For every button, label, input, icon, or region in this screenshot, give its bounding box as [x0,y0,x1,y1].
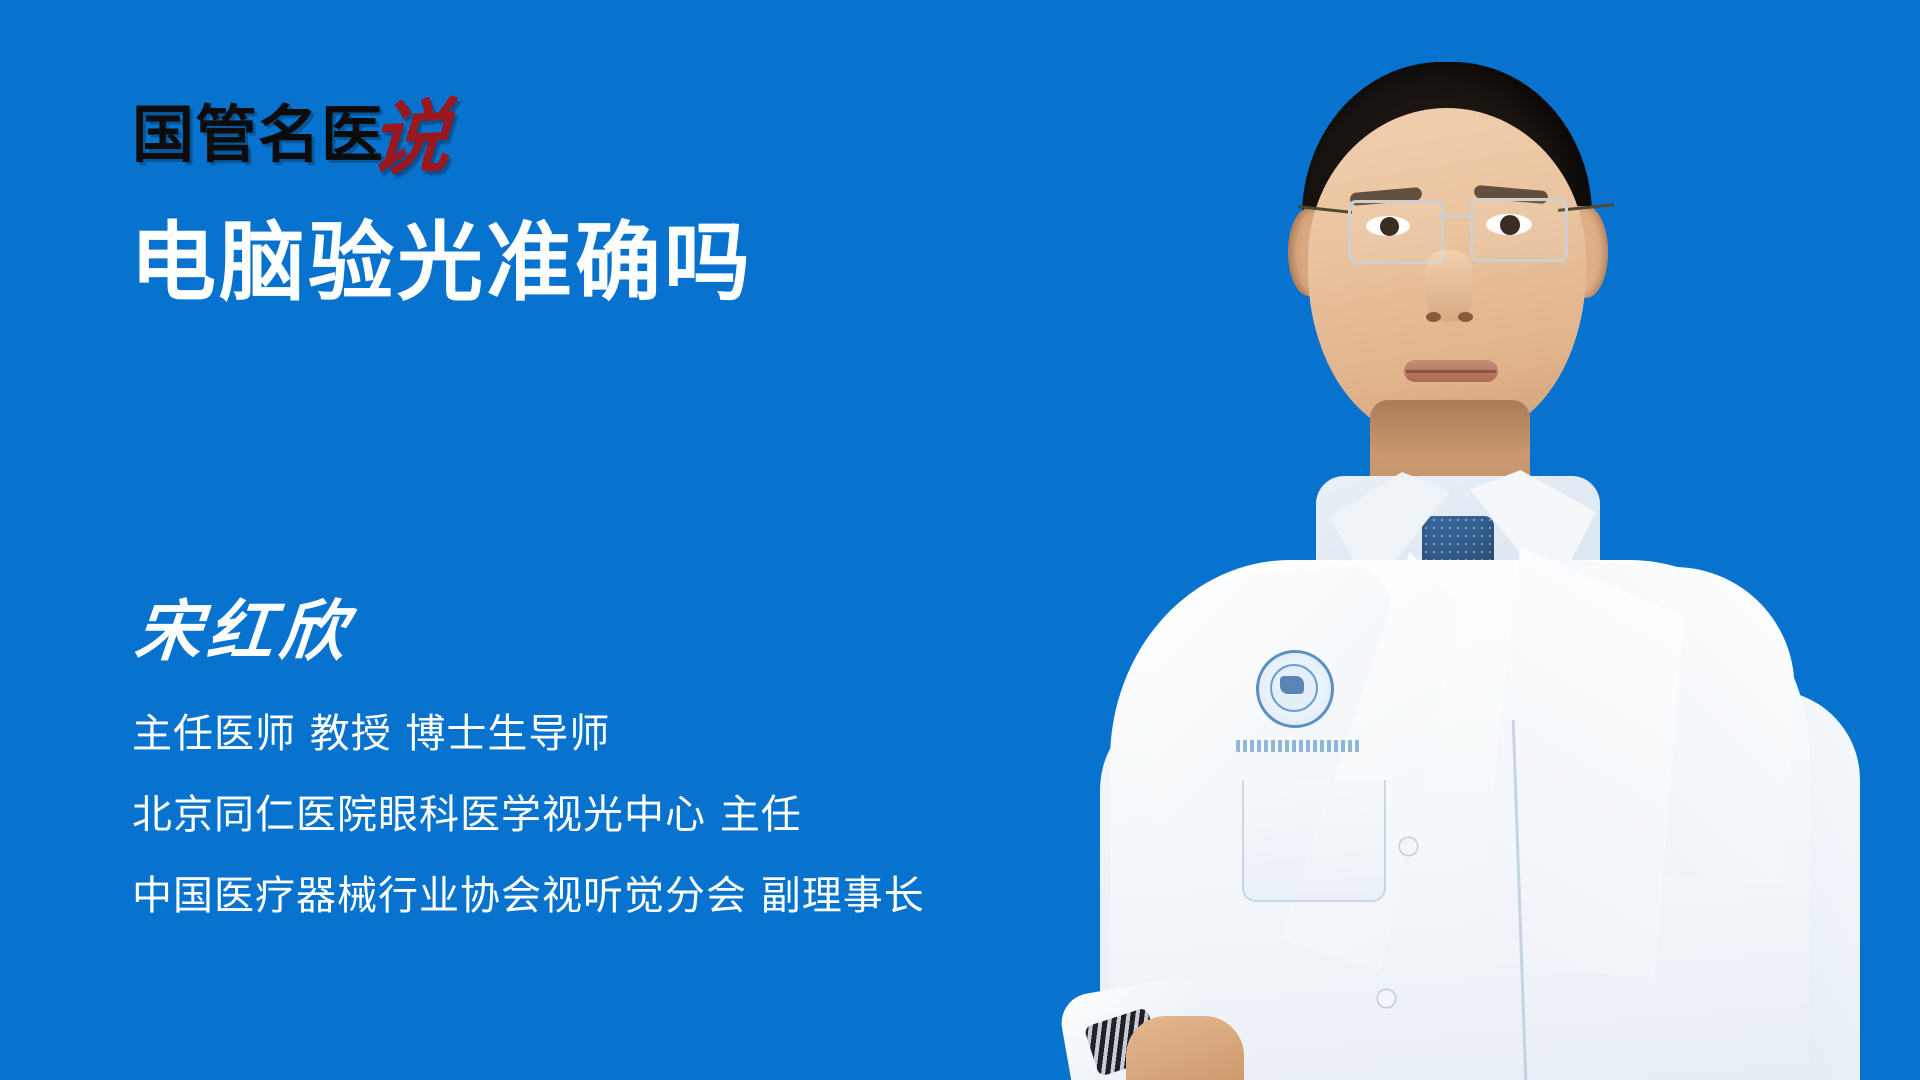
hand [1126,1016,1244,1080]
lip-line [1406,370,1496,373]
glasses-bridge [1436,214,1472,217]
lab-coat-button-lower [1378,990,1395,1007]
lab-coat-button-upper [1400,838,1417,855]
right-nostril [1458,312,1473,322]
poster-canvas: 国管名医 说 电脑验光准确吗 宋红欣 主任医师 教授 博士生导师 北京同仁医院眼… [0,0,1920,1080]
credential-line-3: 中国医疗器械行业协会视听觉分会 副理事长 [132,876,925,916]
neck-shadow [1370,400,1530,458]
left-nostril [1426,312,1441,322]
episode-title: 电脑验光准确吗 [130,216,753,311]
glasses-left-lens [1348,200,1444,264]
credential-line-1: 主任医师 教授 博士生导师 [132,714,925,754]
speaker-name: 宋红欣 [132,578,356,674]
lab-coat-pocket [1242,780,1386,902]
credential-line-2: 北京同仁医院眼科医学视光中心 主任 [132,795,925,835]
program-logo-main-text: 国管名医 [132,104,384,166]
speaker-credentials: 主任医师 教授 博士生导师 北京同仁医院眼科医学视光中心 主任 中国医疗器械行业… [132,714,925,916]
program-logo: 国管名医 说 [132,98,450,166]
doctor-portrait [1030,0,1920,1080]
program-logo-accent-text: 说 [368,96,453,180]
coat-embroidered-text [1236,740,1362,752]
glasses-right-lens [1470,198,1568,262]
hospital-crest-core [1280,676,1304,694]
